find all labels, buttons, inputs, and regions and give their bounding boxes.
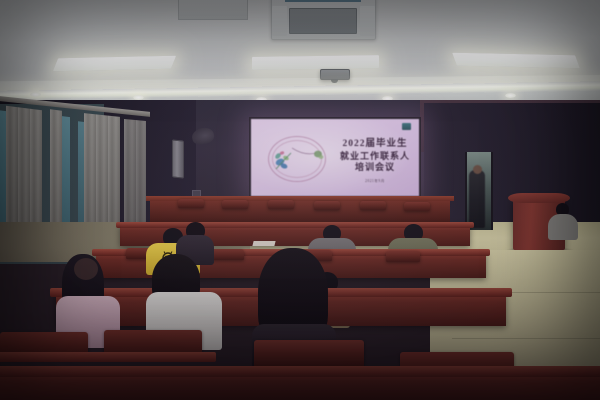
institution-logo-icon	[402, 123, 411, 130]
curtain-3	[84, 113, 120, 239]
desk-row-5-top	[0, 366, 600, 377]
slide-date: 2021年9月	[335, 179, 415, 184]
curtain-1	[6, 106, 42, 238]
person-in-doorway-head	[473, 165, 482, 174]
chair-back-r0-5	[360, 201, 386, 210]
chair-back-r2-4	[386, 251, 420, 262]
chair-back-r0-1	[178, 199, 204, 208]
led-panel-right	[452, 53, 580, 69]
slide-branch-illustration	[292, 145, 326, 161]
paper-on-desk-1	[252, 241, 275, 246]
ac-grille	[289, 8, 357, 34]
slide-title-line-1: 2022届毕业生	[335, 139, 415, 151]
downlight-1	[30, 92, 41, 97]
slide-title-line-3: 培训会议	[335, 162, 415, 174]
slide-title-block: 2022届毕业生 就业工作联系人 培训会议 2021年9月	[335, 139, 415, 184]
projection-screen: 2022届毕业生 就业工作联系人 培训会议 2021年9月	[251, 119, 419, 196]
slide-title-line-2: 就业工作联系人	[335, 151, 415, 163]
ceiling-air-vent	[178, 0, 248, 20]
chair-back-r2-2	[210, 249, 244, 260]
wall-speaker	[172, 139, 184, 178]
desk-row-5-top-left	[0, 352, 216, 362]
led-panel-center	[252, 55, 379, 70]
chair-back-r0-4	[314, 201, 340, 210]
chair-back-r0-3	[268, 200, 294, 209]
ac-top-strip	[285, 0, 361, 2]
person-in-doorway	[469, 170, 485, 228]
curtain-4	[124, 119, 146, 237]
curtain-2	[50, 109, 62, 236]
conference-room-photo: 2022届毕业生 就业工作联系人 培训会议 2021年9月	[0, 0, 600, 400]
podium-top-surface	[508, 193, 570, 203]
chair-back-r0-2	[222, 200, 248, 209]
led-panel-left	[53, 56, 176, 71]
front-wall-right-dark	[424, 103, 600, 233]
floor-tile-line-2	[452, 338, 600, 339]
chair-back-r4-3	[254, 340, 364, 368]
chair-back-r0-6	[404, 202, 430, 211]
ac-vent-right	[360, 6, 375, 36]
ac-vent-left	[272, 6, 287, 36]
downlight-5	[505, 93, 516, 98]
